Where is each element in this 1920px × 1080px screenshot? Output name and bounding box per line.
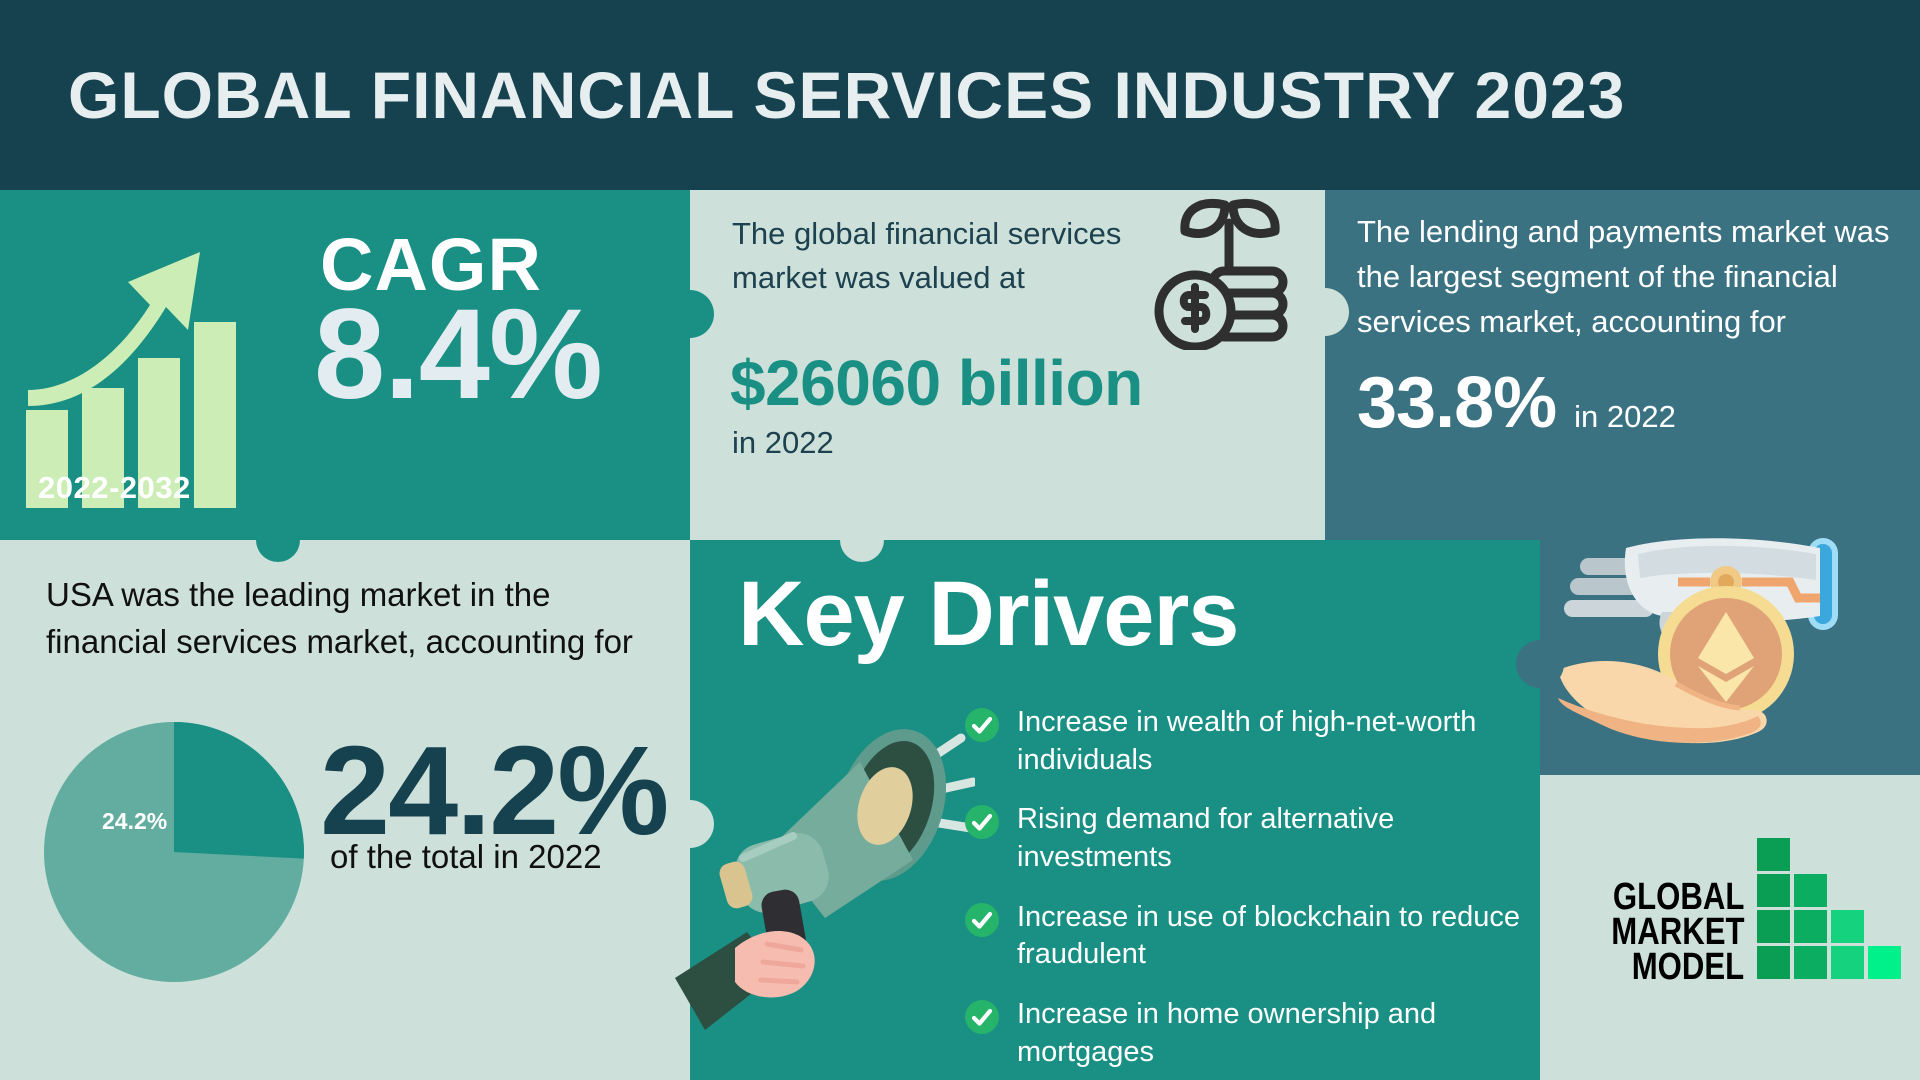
- check-circle-icon: [965, 1000, 999, 1034]
- logo-line-2: MARKET: [1611, 915, 1744, 950]
- money-plant-coins-icon: [1137, 175, 1297, 350]
- lending-year: in 2022: [1574, 399, 1676, 435]
- list-item-label: Increase in wealth of high-net-worth ind…: [1017, 704, 1525, 779]
- megaphone-hand-icon: [675, 710, 975, 1070]
- list-item-label: Increase in use of blockchain to reduce …: [1017, 899, 1525, 974]
- market-value-year: in 2022: [732, 425, 834, 461]
- lending-percentage: 33.8%: [1357, 362, 1556, 444]
- logo-line-1: GLOBAL: [1613, 880, 1745, 915]
- usa-pie-chart: 24.2%: [42, 720, 307, 985]
- usa-text: USA was the leading market in the financ…: [46, 572, 666, 666]
- check-circle-icon: [965, 805, 999, 839]
- page-header: GLOBAL FINANCIAL SERVICES INDUSTRY 2023: [0, 0, 1920, 190]
- key-drivers-panel: Key Drivers: [690, 540, 1540, 1080]
- lending-figure-row: 33.8% in 2022: [1357, 362, 1676, 444]
- usa-subtitle: of the total in 2022: [330, 838, 602, 876]
- connector-knob: [256, 518, 300, 562]
- cagr-year-range: 2022-2032: [38, 470, 191, 506]
- connector-knob: [1516, 640, 1564, 688]
- list-item: Rising demand for alternative investment…: [965, 801, 1525, 876]
- page-title: GLOBAL FINANCIAL SERVICES INDUSTRY 2023: [68, 57, 1625, 133]
- robot-hand-giving-ethereum-coin-icon: [1558, 520, 1906, 780]
- list-item-label: Rising demand for alternative investment…: [1017, 801, 1525, 876]
- market-value-panel: The global financial services market was…: [690, 190, 1325, 540]
- connector-knob: [840, 518, 884, 562]
- market-value-figure: $26060 billion: [730, 346, 1143, 420]
- logo-wordmark: GLOBAL MARKET MODEL: [1582, 880, 1745, 985]
- list-item-label: Increase in home ownership and mortgages: [1017, 996, 1525, 1071]
- connector-knob: [666, 290, 714, 338]
- logo-panel: GLOBAL MARKET MODEL: [1540, 775, 1920, 1080]
- bar-chart-growth-arrow-icon: [20, 210, 280, 510]
- list-item: Increase in wealth of high-net-worth ind…: [965, 704, 1525, 779]
- stepped-bar-grid-logo-icon: [1757, 835, 1907, 985]
- logo-line-3: MODEL: [1632, 950, 1745, 985]
- connector-knob: [1301, 288, 1349, 336]
- coin-exchange-panel: [1540, 540, 1920, 775]
- connector-knob: [666, 800, 714, 848]
- check-circle-icon: [965, 708, 999, 742]
- market-value-text: The global financial services market was…: [732, 212, 1152, 300]
- key-drivers-title: Key Drivers: [738, 562, 1238, 667]
- cagr-panel: 2022-2032 CAGR 8.4%: [0, 190, 690, 540]
- key-drivers-list: Increase in wealth of high-net-worth ind…: [965, 704, 1525, 1080]
- usa-panel: USA was the leading market in the financ…: [0, 540, 690, 1080]
- global-market-model-logo: GLOBAL MARKET MODEL: [1582, 835, 1907, 985]
- lending-text: The lending and payments market was the …: [1357, 210, 1902, 345]
- list-item: Increase in home ownership and mortgages: [965, 996, 1525, 1071]
- cagr-value: 8.4%: [314, 285, 602, 426]
- check-circle-icon: [965, 903, 999, 937]
- infographic-root: GLOBAL FINANCIAL SERVICES INDUSTRY 2023 …: [0, 0, 1920, 1080]
- list-item: Increase in use of blockchain to reduce …: [965, 899, 1525, 974]
- lending-panel: The lending and payments market was the …: [1325, 190, 1920, 540]
- usa-pie-slice-label: 24.2%: [102, 808, 167, 835]
